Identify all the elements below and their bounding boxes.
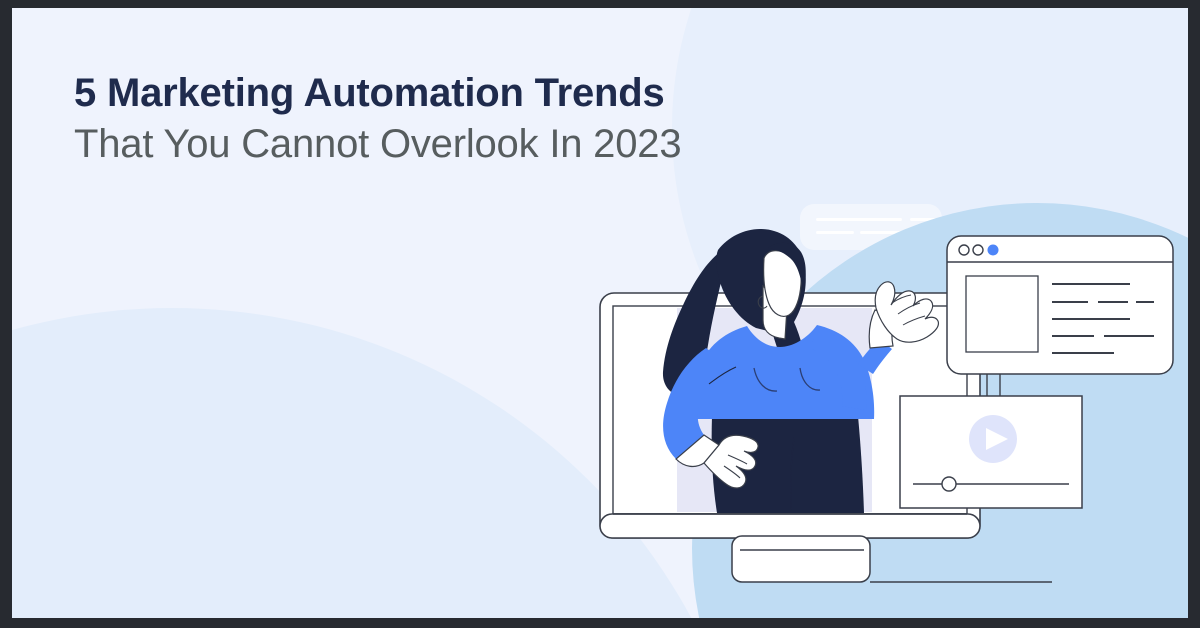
browser-dot-3	[988, 245, 999, 256]
monitor-stand	[732, 536, 870, 582]
browser-window-card	[947, 236, 1173, 374]
headline-block: 5 Marketing Automation Trends That You C…	[74, 68, 681, 170]
banner-canvas: 5 Marketing Automation Trends That You C…	[12, 8, 1188, 618]
monitor-base-bezel	[600, 514, 980, 538]
video-player-card	[900, 396, 1082, 508]
headline-line-2: That You Cannot Overlook In 2023	[74, 118, 681, 170]
image-placeholder-box	[966, 276, 1038, 352]
banner-root: 5 Marketing Automation Trends That You C…	[0, 0, 1200, 628]
play-icon	[969, 415, 1017, 463]
headline-line-1: 5 Marketing Automation Trends	[74, 68, 681, 118]
